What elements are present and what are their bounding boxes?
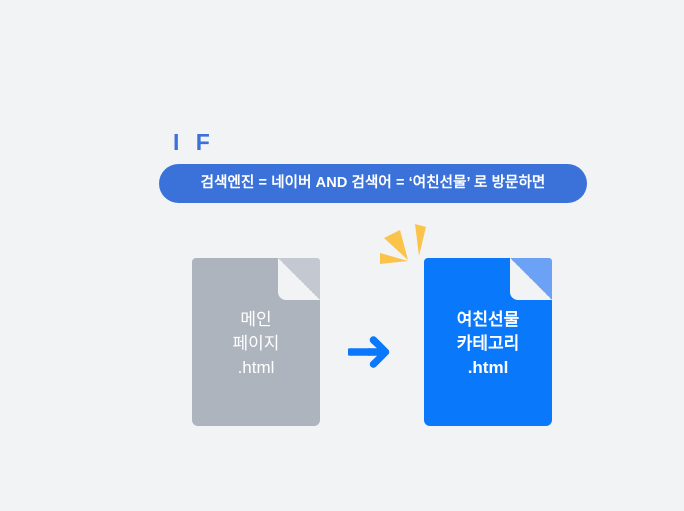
source-document-label: 메인 페이지 .html [192, 308, 320, 380]
arrow-right-icon [348, 334, 392, 370]
document-fold-icon [510, 258, 552, 300]
diagram-canvas: I F 검색엔진 = 네이버 AND 검색어 = ‘여친선물’ 로 방문하면 메… [0, 0, 684, 511]
if-keyword-label: I F [173, 131, 215, 154]
target-document-line-3: .html [424, 356, 552, 380]
target-document: 여친선물 카테고리 .html [424, 258, 552, 426]
condition-text: 검색엔진 = 네이버 AND 검색어 = ‘여친선물’ 로 방문하면 [201, 176, 546, 191]
condition-pill: 검색엔진 = 네이버 AND 검색어 = ‘여친선물’ 로 방문하면 [159, 164, 587, 203]
document-fold-icon [278, 258, 320, 300]
target-document-line-2: 카테고리 [424, 332, 552, 356]
target-document-label: 여친선물 카테고리 .html [424, 308, 552, 380]
source-document-line-1: 메인 [192, 308, 320, 332]
source-document-line-2: 페이지 [192, 332, 320, 356]
target-document-line-1: 여친선물 [424, 308, 552, 332]
source-document: 메인 페이지 .html [192, 258, 320, 426]
source-document-line-3: .html [192, 356, 320, 380]
